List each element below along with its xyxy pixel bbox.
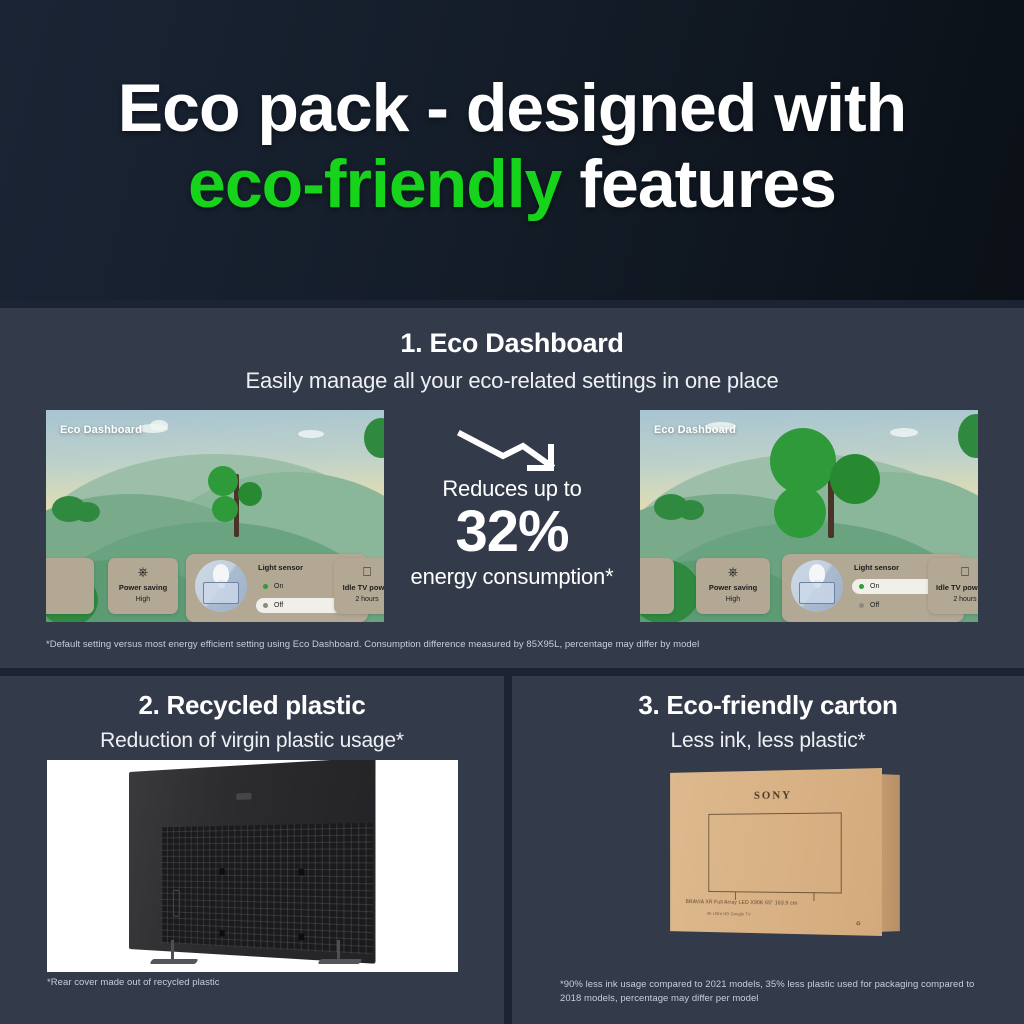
- carton-illustration: SONY BRAVIA XR Full Array LED X90K 65" 1…: [512, 752, 1024, 952]
- dashboard-card-partial[interactable]: [46, 558, 94, 614]
- eco-dashboard-screen-before: Eco Dashboard ⎈ Power saving High Light …: [46, 410, 384, 622]
- idle-tv-power-label: Idle TV power: [334, 583, 384, 592]
- section2-subtitle: Reduction of virgin plastic usage*: [0, 729, 504, 753]
- light-sensor-label: Light sensor: [258, 563, 303, 572]
- power-saving-label: Power saving: [696, 583, 770, 592]
- power-saving-label: Power saving: [108, 583, 178, 592]
- light-sensor-option-on-label: On: [274, 583, 283, 590]
- tv-off-icon: ⎕: [928, 565, 978, 578]
- tv-off-icon: ⎕: [334, 565, 384, 578]
- vesa-mount-hole: [298, 869, 304, 876]
- stat-value: 32%: [396, 502, 628, 562]
- trend-down-arrow-icon: [396, 430, 628, 474]
- power-saving-value: High: [108, 596, 178, 603]
- light-sensor-label: Light sensor: [854, 563, 899, 572]
- section3-title: 3. Eco-friendly carton: [512, 690, 1024, 721]
- hero-text-block: Eco pack - designed with eco-friendly fe…: [0, 70, 1024, 222]
- bulb-tv-icon: [195, 560, 247, 612]
- tv-port-cutout: [173, 890, 180, 917]
- leaf-power-icon: ⎈: [108, 565, 178, 578]
- idle-tv-power-card-left[interactable]: ⎕ Idle TV power 2 hours: [334, 558, 384, 614]
- section3-footnote: *90% less ink usage compared to 2021 mod…: [560, 978, 984, 1006]
- carton-recycle-mark-icon: ♻: [856, 920, 861, 927]
- section-recycled-plastic: 2. Recycled plastic Reduction of virgin …: [0, 676, 504, 1024]
- sony-logo: SONY: [754, 788, 792, 803]
- light-sensor-option-on-label: On: [870, 583, 879, 590]
- hero-title-accent: eco-friendly: [188, 146, 561, 222]
- hero-title-line-2: eco-friendly features: [0, 146, 1024, 222]
- idle-tv-power-label: Idle TV power of: [928, 583, 978, 592]
- tree-leaf: [770, 428, 836, 494]
- hero-title-rest: features: [561, 146, 835, 222]
- tv-back-panel: [129, 760, 375, 964]
- tv-logo-badge: [236, 793, 251, 800]
- tv-stand-leg: [317, 959, 362, 964]
- power-saving-card-right[interactable]: ⎈ Power saving High: [696, 558, 770, 614]
- carton-tv-leg: [735, 892, 736, 900]
- stat-suffix: energy consumption*: [396, 564, 628, 590]
- section1-subtitle: Easily manage all your eco-related setti…: [0, 368, 1024, 394]
- idle-tv-power-card-right[interactable]: ⎕ Idle TV power of 2 hours: [928, 558, 978, 614]
- divider-section2-section3: [504, 676, 512, 1024]
- vesa-mount-hole: [219, 868, 224, 874]
- section1-footnote: *Default setting versus most energy effi…: [46, 638, 986, 652]
- hero-title-line-1: Eco pack - designed with: [0, 70, 1024, 146]
- bush-shape: [678, 500, 704, 520]
- vesa-mount-hole: [219, 930, 224, 937]
- tv-stand-leg: [149, 959, 198, 964]
- light-sensor-option-off-label: Off: [870, 602, 879, 609]
- eco-pack-infographic: Eco pack - designed with eco-friendly fe…: [0, 0, 1024, 1024]
- leaf-power-icon: ⎈: [696, 565, 770, 578]
- cloud-icon: [298, 430, 324, 438]
- carton-spec-line: BRAVIA XR Full Array LED X90K 65" 163.9 …: [686, 899, 873, 908]
- power-saving-card-left[interactable]: ⎈ Power saving High: [108, 558, 178, 614]
- radio-dot-icon: [263, 584, 268, 589]
- tree-leaf: [774, 486, 826, 538]
- energy-reduction-stat: Reduces up to 32% energy consumption*: [396, 430, 628, 590]
- tree-leaf: [238, 482, 262, 506]
- eco-dashboard-screen-after: Eco Dashboard ⎈ Power saving High Light …: [640, 410, 978, 622]
- carton-front-panel: SONY BRAVIA XR Full Array LED X90K 65" 1…: [670, 768, 882, 936]
- idle-tv-power-value: 2 hours: [928, 596, 978, 603]
- radio-dot-icon: [263, 603, 268, 608]
- mini-tv-shape: [203, 582, 239, 604]
- panel-label-left: Eco Dashboard: [60, 424, 142, 436]
- radio-dot-icon: [859, 603, 864, 608]
- vesa-mount-hole: [298, 933, 304, 940]
- section2-footnote: *Rear cover made out of recycled plastic: [0, 976, 420, 990]
- tree-leaf: [212, 496, 238, 522]
- carton-tv-leg: [813, 893, 814, 901]
- section1-title: 1. Eco Dashboard: [0, 328, 1024, 359]
- tree-leaf: [830, 454, 880, 504]
- idle-tv-power-value: 2 hours: [334, 596, 384, 603]
- power-saving-value: High: [696, 596, 770, 603]
- dashboard-card-row-left: ⎈ Power saving High Light sensor On Off: [46, 546, 384, 614]
- section3-subtitle: Less ink, less plastic*: [512, 729, 1024, 753]
- tree-leaf: [208, 466, 238, 496]
- dashboard-card-partial[interactable]: [640, 558, 674, 614]
- dashboard-card-row-right: ⎈ Power saving High Light sensor On Off: [640, 546, 978, 614]
- section-eco-carton: 3. Eco-friendly carton Less ink, less pl…: [512, 676, 1024, 1024]
- bush-shape: [74, 502, 100, 522]
- radio-dot-icon: [859, 584, 864, 589]
- hero-banner: Eco pack - designed with eco-friendly fe…: [0, 0, 1024, 308]
- tv-rear-photo: [47, 760, 458, 972]
- section2-title: 2. Recycled plastic: [0, 690, 504, 721]
- light-sensor-option-off-label: Off: [274, 602, 283, 609]
- cloud-icon: [890, 428, 918, 437]
- carton-tv-outline: [708, 812, 841, 893]
- bulb-tv-icon: [791, 560, 843, 612]
- divider-section1-section2: [0, 668, 1024, 676]
- panel-label-right: Eco Dashboard: [654, 424, 736, 436]
- mini-tv-shape: [799, 582, 835, 604]
- tv-rear-illustration: [47, 760, 458, 972]
- tv-grid-texture: [161, 823, 373, 955]
- carton-sub-line: 4K Ultra HD Google TV: [707, 911, 751, 917]
- divider-hero-section1: [0, 300, 1024, 308]
- cloud-icon: [150, 420, 168, 431]
